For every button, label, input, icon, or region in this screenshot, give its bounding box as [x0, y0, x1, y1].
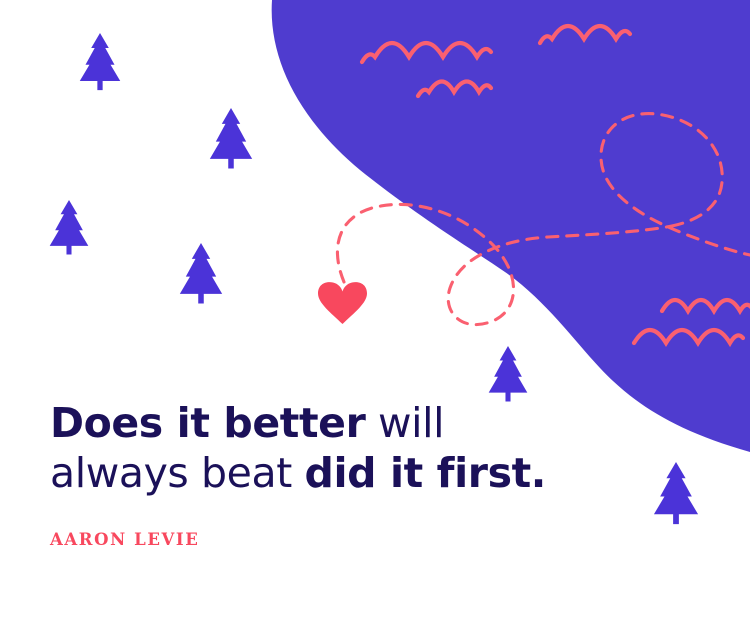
quote-line-2: always beat did it first.	[50, 448, 670, 498]
quote-line-1-rest: will	[365, 399, 444, 447]
tree-5-icon	[489, 346, 528, 401]
quote-author: Aaron Levie	[50, 498, 670, 549]
quote-line-2-emphasis: did it first.	[305, 449, 546, 497]
heart-icon	[318, 282, 367, 324]
quote-block: Does it better will always beat did it f…	[50, 398, 670, 549]
tree-4-icon	[180, 243, 222, 303]
quote-line-1-emphasis: Does it better	[50, 399, 365, 447]
quote-card: Does it better will always beat did it f…	[0, 0, 750, 625]
tree-2-icon	[210, 108, 252, 168]
tree-3-icon	[50, 200, 89, 255]
quote-line-1: Does it better will	[50, 398, 670, 448]
tree-1-icon	[80, 33, 120, 90]
quote-line-2-rest: always beat	[50, 449, 305, 497]
